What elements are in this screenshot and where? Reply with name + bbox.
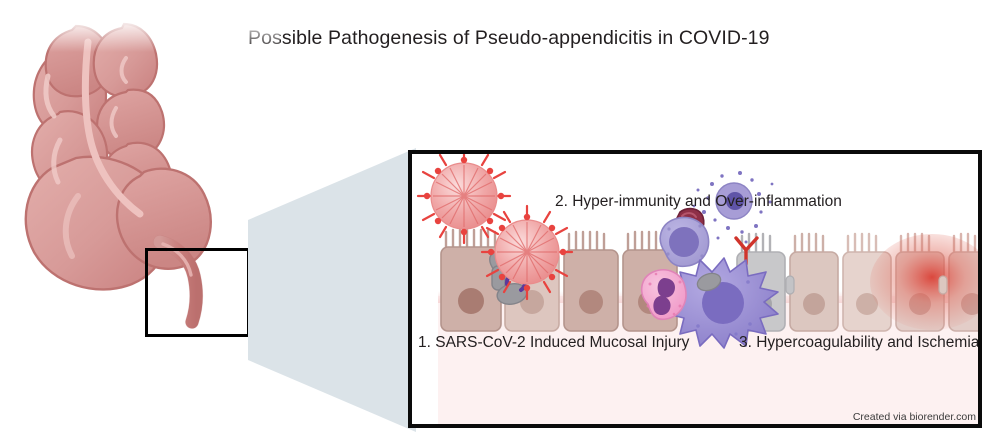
sars-cov-2-virion: [418, 154, 510, 243]
panel-inner: 1. SARS-CoV-2 Induced Mucosal Injury 2. …: [412, 154, 978, 424]
microvilli: [569, 232, 604, 252]
magnification-wedge: [248, 148, 416, 432]
cell-nucleus: [803, 293, 825, 315]
figure-root: Possible Pathogenesis of Pseudo-appendic…: [0, 0, 986, 444]
panel-label-2: 2. Hyper-immunity and Over-inflammation: [555, 193, 842, 211]
zoom-selection-square[interactable]: [145, 248, 250, 337]
microvilli: [628, 232, 663, 252]
magnified-mucosa-panel: 1. SARS-CoV-2 Induced Mucosal Injury 2. …: [408, 150, 982, 428]
biorender-credit: Created via biorender.com: [853, 411, 976, 423]
microvilli: [795, 234, 823, 254]
panel-label-3: 3. Hypercoagulability and Ischemia: [739, 334, 979, 352]
virion-texture: [497, 222, 557, 282]
figure-title: Possible Pathogenesis of Pseudo-appendic…: [248, 27, 808, 50]
panel-label-1: 1. SARS-CoV-2 Induced Mucosal Injury: [418, 334, 689, 352]
columnar-epithelial-cell: [790, 234, 838, 331]
wedge-svg: [248, 148, 416, 432]
top-fade: [0, 18, 280, 52]
cell-nucleus: [579, 290, 603, 314]
ace2-receptor: [786, 276, 794, 294]
wedge-shape: [248, 148, 416, 432]
microvilli: [848, 234, 876, 254]
virion-texture: [433, 165, 495, 227]
columnar-epithelial-cell: [564, 232, 618, 331]
ace2-receptor: [939, 276, 947, 294]
cell-body: [790, 252, 838, 331]
cell-nucleus: [669, 227, 699, 257]
cell-nucleus: [458, 288, 484, 314]
